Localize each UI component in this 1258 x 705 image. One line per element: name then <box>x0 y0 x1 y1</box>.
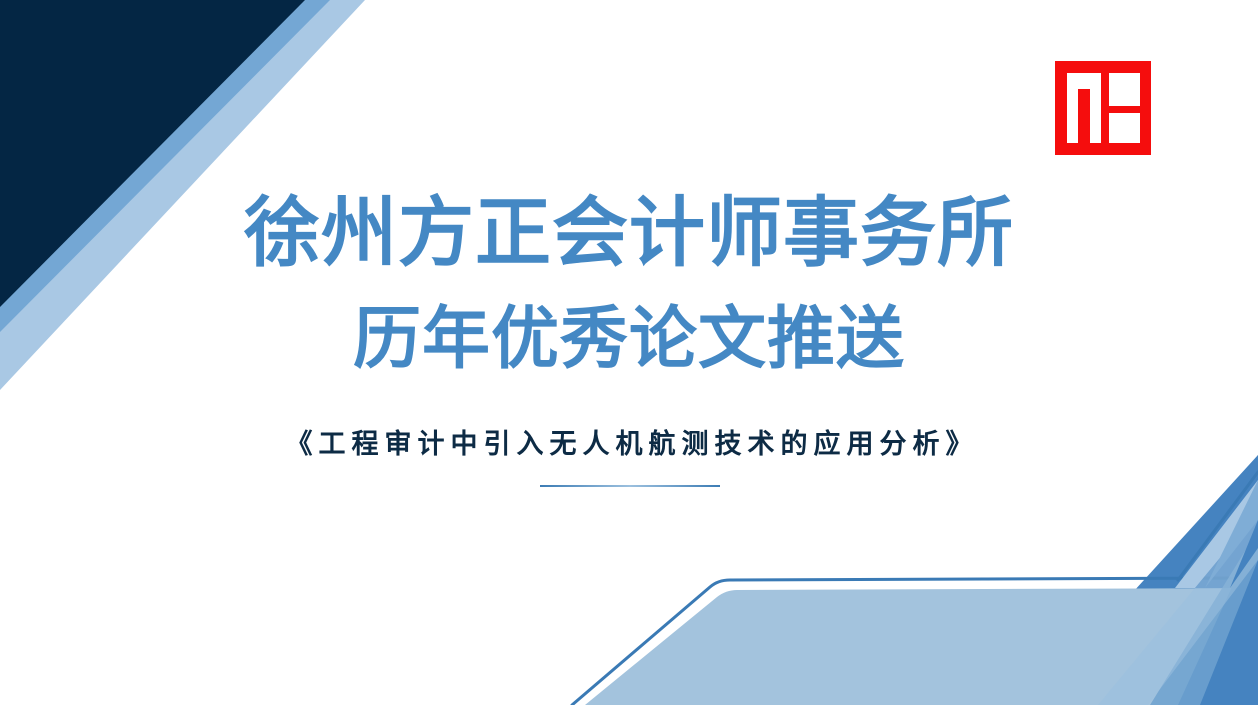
page-title-line-2: 历年优秀论文推送 <box>0 296 1258 382</box>
slide-subtitle: 《工程审计中引入无人机航测技术的应用分析》 <box>0 424 1258 464</box>
page-title-line-1: 徐州方正会计师事务所 <box>0 186 1258 282</box>
title-slide: 徐州方正会计师事务所 历年优秀论文推送 《工程审计中引入无人机航测技术的应用分析… <box>0 0 1258 705</box>
slide-text-block: 徐州方正会计师事务所 历年优秀论文推送 《工程审计中引入无人机航测技术的应用分析… <box>0 0 1258 705</box>
gradient-rule <box>540 485 720 487</box>
